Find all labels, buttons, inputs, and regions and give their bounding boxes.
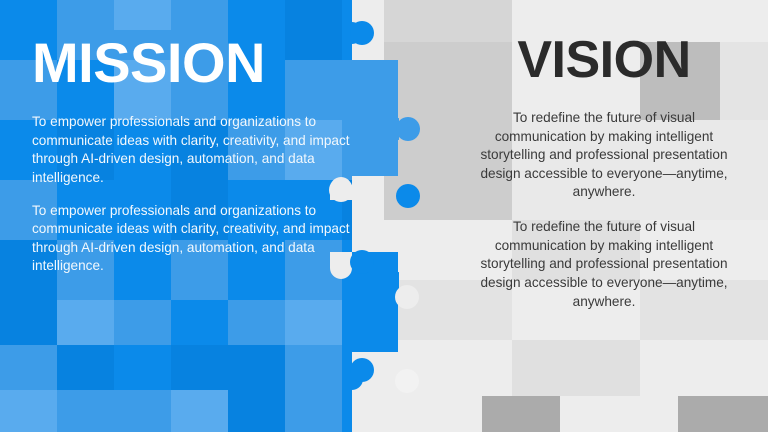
mission-paragraph-2: To empower professionals and organizatio… (32, 202, 352, 276)
slide-canvas: MISSION To empower professionals and org… (0, 0, 768, 432)
mission-paragraph-1: To empower professionals and organizatio… (32, 113, 352, 187)
vision-panel: VISION To redefine the future of visual … (470, 34, 738, 311)
mission-panel: MISSION To empower professionals and org… (32, 34, 352, 276)
vision-paragraph-1: To redefine the future of visual communi… (470, 109, 738, 202)
mission-title: MISSION (32, 34, 352, 91)
mission-body: To empower professionals and organizatio… (32, 113, 352, 276)
puzzle-notch-icon (395, 369, 419, 393)
vision-body: To redefine the future of visual communi… (470, 109, 738, 311)
vision-title: VISION (470, 34, 738, 87)
puzzle-notch-icon (395, 285, 419, 309)
vision-paragraph-2: To redefine the future of visual communi… (470, 218, 738, 311)
